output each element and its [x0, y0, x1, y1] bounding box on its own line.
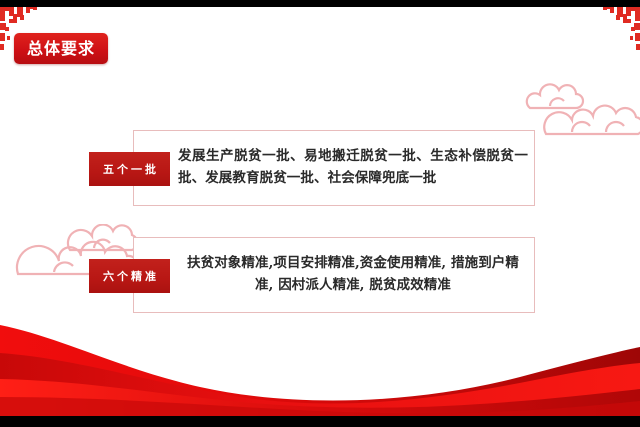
row-label-badge: 五个一批 [89, 152, 170, 186]
row-body-text: 扶贫对象精准,项目安排精准,资金使用精准, 措施到户精准, 因村派人精准, 脱贫… [178, 253, 528, 297]
letterbox-bar-top [0, 0, 640, 7]
content-row: 六个精准 扶贫对象精准,项目安排精准,资金使用精准, 措施到户精准, 因村派人精… [133, 237, 535, 313]
presentation-slide: 总体要求 五个一批 发展生产脱贫一批、易地搬迁脱贫一批、生态补偿脱贫一批、发展教… [0, 0, 640, 427]
ribbon-wave-bottom-icon [0, 307, 640, 427]
row-label-text: 五个一批 [100, 164, 159, 175]
fret-top-right-icon [594, 6, 640, 50]
row-body-text: 发展生产脱贫一批、易地搬迁脱贫一批、生态补偿脱贫一批、发展教育脱贫一批、社会保障… [178, 146, 528, 190]
row-label-text: 六个精准 [100, 271, 159, 282]
content-row: 五个一批 发展生产脱贫一批、易地搬迁脱贫一批、生态补偿脱贫一批、发展教育脱贫一批… [133, 130, 535, 206]
row-label-badge: 六个精准 [89, 259, 170, 293]
section-badge-label: 总体要求 [27, 41, 95, 57]
letterbox-bar-bottom [0, 416, 640, 427]
section-badge: 总体要求 [14, 33, 108, 64]
